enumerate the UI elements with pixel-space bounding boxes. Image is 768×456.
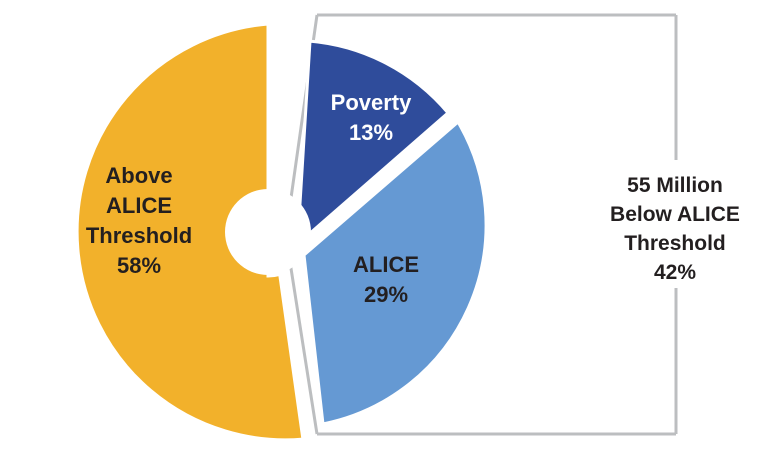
callout-line-4: 42% bbox=[654, 261, 696, 284]
donut-hole bbox=[225, 189, 311, 275]
slice-above-label-value: 58% bbox=[117, 253, 161, 278]
donut-chart-figure: Above ALICE Threshold 58% Poverty 13% AL… bbox=[0, 0, 768, 456]
slice-above-label-line-1: Above bbox=[105, 163, 172, 188]
donut-chart-svg: Above ALICE Threshold 58% Poverty 13% AL… bbox=[0, 0, 768, 456]
callout-line-2: Below ALICE bbox=[610, 203, 740, 226]
slice-alice-label-value: 29% bbox=[364, 282, 408, 307]
slice-poverty-label-name: Poverty bbox=[331, 90, 412, 115]
callout-line-1: 55 Million bbox=[627, 174, 723, 197]
below-alice-callout-label: 55 Million Below ALICE Threshold 42% bbox=[610, 174, 740, 284]
slice-above-label-line-3: Threshold bbox=[86, 223, 192, 248]
callout-line-3: Threshold bbox=[624, 232, 726, 255]
slice-poverty-label-value: 13% bbox=[349, 120, 393, 145]
slice-above-label-line-2: ALICE bbox=[106, 193, 172, 218]
slice-alice-label-name: ALICE bbox=[353, 252, 419, 277]
